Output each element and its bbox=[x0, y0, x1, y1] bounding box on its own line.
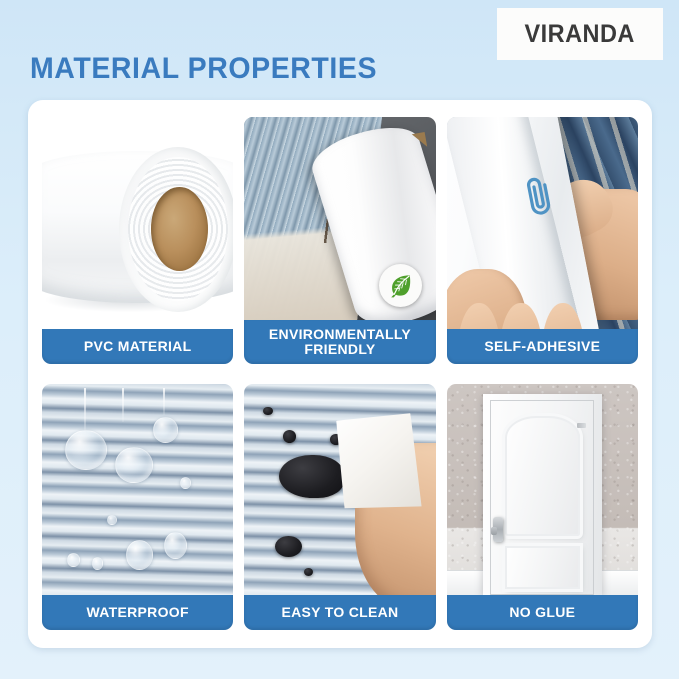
water-droplets-image bbox=[42, 384, 233, 596]
water-droplet-small-3 bbox=[107, 515, 117, 526]
feature-label-pvc-material: PVC MATERIAL bbox=[42, 329, 233, 364]
peel-and-stick-hands-image bbox=[447, 117, 638, 329]
pvc-roll-image bbox=[42, 117, 233, 329]
droplet-trail-2 bbox=[122, 388, 124, 422]
water-droplet-medium-3 bbox=[164, 532, 187, 559]
droplet-trail-1 bbox=[84, 388, 86, 435]
feature-label-environmentally-friendly: ENVIRONMENTALLY FRIENDLY bbox=[244, 320, 435, 364]
ink-stain-large bbox=[279, 455, 344, 497]
door-frame bbox=[483, 394, 602, 595]
feature-card-pvc-material: PVC MATERIAL bbox=[42, 117, 233, 364]
feature-label-easy-to-clean: EASY TO CLEAN bbox=[244, 595, 435, 630]
door-panel-bottom bbox=[505, 546, 580, 589]
brand-logo-box: VIRANDA bbox=[497, 8, 663, 60]
wiping-stain-image bbox=[244, 384, 435, 596]
feature-card-waterproof: WATERPROOF bbox=[42, 384, 233, 631]
baseboard-right bbox=[602, 570, 638, 595]
water-droplet-large-1 bbox=[65, 430, 107, 470]
water-droplet-small-1 bbox=[67, 553, 80, 568]
door-panel-top bbox=[505, 416, 580, 537]
feature-card-environmentally-friendly: ENVIRONMENTALLY FRIENDLY bbox=[244, 117, 435, 364]
water-droplet-medium-2 bbox=[126, 540, 153, 570]
door-slab bbox=[490, 400, 594, 595]
water-droplet-small-4 bbox=[180, 477, 191, 490]
curl-corner-tip bbox=[412, 132, 427, 149]
ink-stain-medium bbox=[275, 536, 302, 557]
feature-card-no-glue: NO GLUE bbox=[447, 384, 638, 631]
door-latch bbox=[491, 527, 497, 535]
features-panel: PVC MATERIAL bbox=[28, 100, 652, 648]
water-droplet-small-2 bbox=[92, 557, 103, 570]
ink-spot-1 bbox=[283, 430, 296, 443]
ink-spot-3 bbox=[263, 407, 273, 415]
water-droplet-medium-1 bbox=[153, 417, 178, 442]
white-door-image bbox=[447, 384, 638, 596]
droplet-trail-3 bbox=[163, 388, 165, 415]
feature-card-self-adhesive: SELF-ADHESIVE bbox=[447, 117, 638, 364]
door-hinge bbox=[577, 423, 586, 428]
cleaning-cloth bbox=[327, 405, 430, 522]
brand-name: VIRANDA bbox=[525, 20, 635, 49]
ink-spot-4 bbox=[304, 568, 314, 576]
features-grid: PVC MATERIAL bbox=[42, 117, 638, 630]
baseboard-left bbox=[447, 570, 483, 595]
eco-wallpaper-roll-image bbox=[244, 117, 435, 320]
feature-card-easy-to-clean: EASY TO CLEAN bbox=[244, 384, 435, 631]
water-droplet-large-2 bbox=[115, 447, 153, 483]
feature-label-waterproof: WATERPROOF bbox=[42, 595, 233, 630]
feature-label-no-glue: NO GLUE bbox=[447, 595, 638, 630]
page-title: MATERIAL PROPERTIES bbox=[30, 52, 377, 86]
feature-label-self-adhesive: SELF-ADHESIVE bbox=[447, 329, 638, 364]
